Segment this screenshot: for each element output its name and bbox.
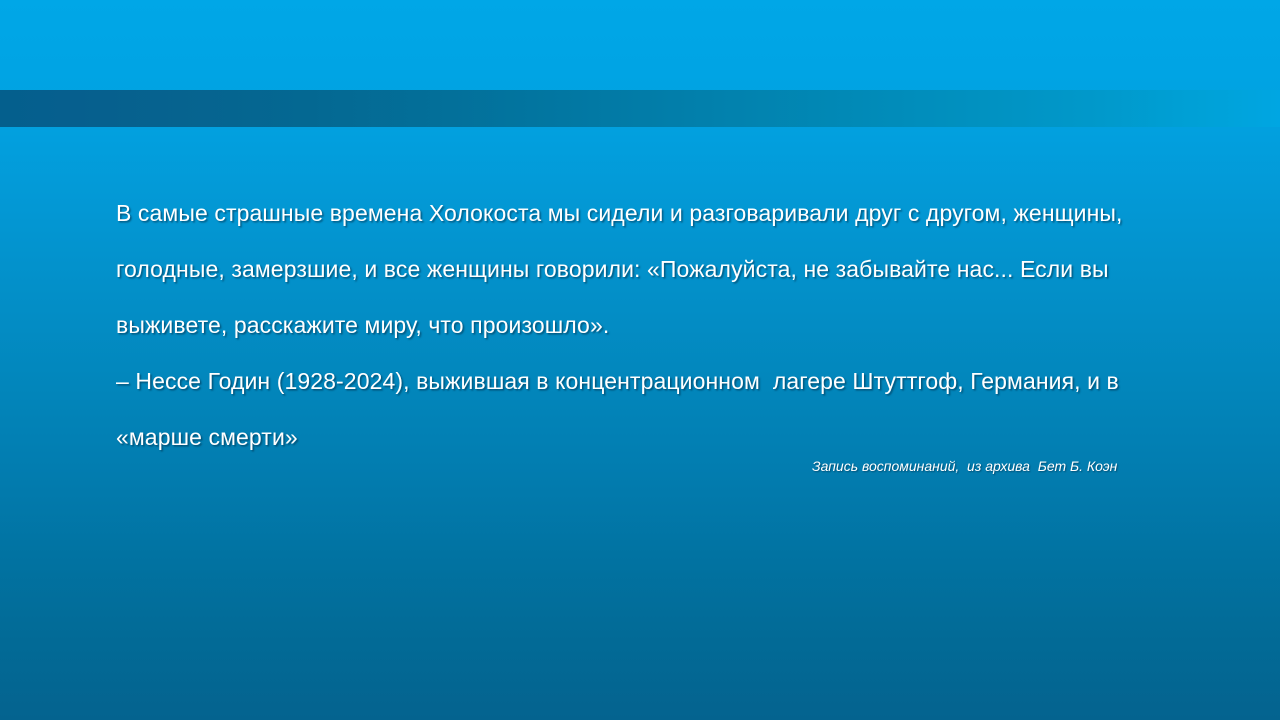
- source-credit: Запись воспоминаний, из архива Бет Б. Ко…: [812, 456, 1212, 476]
- quote-line: голодные, замерзшие, и все женщины говор…: [116, 241, 1172, 297]
- quote-line: выживете, расскажите миру, что произошло…: [116, 297, 1172, 353]
- quote-text-block: В самые страшные времена Холокоста мы си…: [116, 185, 1172, 465]
- presentation-slide: В самые страшные времена Холокоста мы си…: [0, 0, 1280, 720]
- quote-line: В самые страшные времена Холокоста мы си…: [116, 185, 1172, 241]
- quote-attribution-line: – Нессе Годин (1928-2024), выжившая в ко…: [116, 353, 1172, 409]
- slide-content: В самые страшные времена Холокоста мы си…: [0, 0, 1280, 720]
